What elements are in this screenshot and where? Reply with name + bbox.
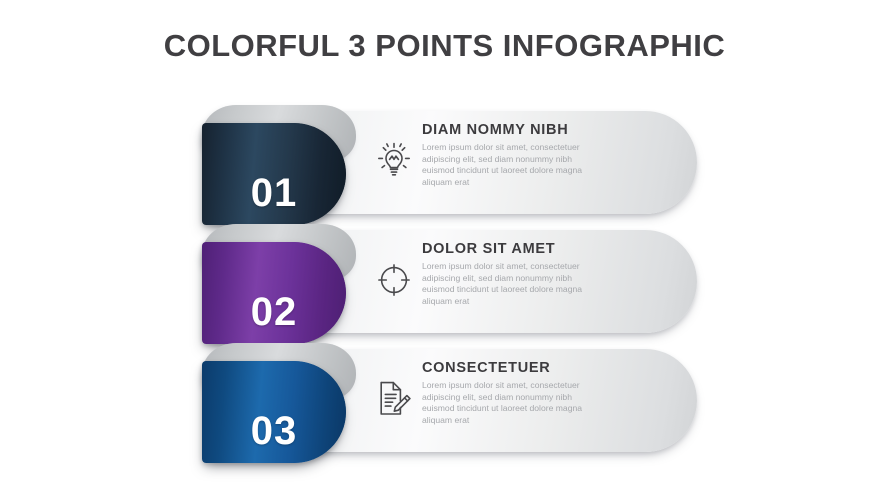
lightbulb-idea-icon — [366, 115, 422, 201]
point-heading-2: DOLOR SIT AMET — [422, 241, 602, 257]
number-tab-1[interactable]: 01 — [202, 123, 346, 225]
document-edit-pencil-icon — [366, 353, 422, 439]
point-text-3: CONSECTETUER Lorem ipsum dolor sit amet,… — [422, 353, 602, 426]
point-item-3[interactable]: 03 CONSECT — [196, 341, 696, 481]
point-content-2: DOLOR SIT AMET Lorem ipsum dolor sit ame… — [366, 234, 686, 330]
point-text-1: DIAM NOMMY NIBH Lorem ipsum dolor sit am… — [422, 115, 602, 188]
point-heading-3: CONSECTETUER — [422, 360, 602, 376]
point-content-3: CONSECTETUER Lorem ipsum dolor sit amet,… — [366, 353, 686, 449]
number-label-2: 02 — [202, 290, 346, 335]
point-text-2: DOLOR SIT AMET Lorem ipsum dolor sit ame… — [422, 234, 602, 307]
target-crosshair-icon — [366, 234, 422, 320]
point-heading-1: DIAM NOMMY NIBH — [422, 122, 602, 138]
number-label-1: 01 — [202, 171, 346, 216]
infographic-root: COLORFUL 3 POINTS INFOGRAPHIC 01 — [0, 0, 889, 500]
points-list: 01 — [0, 0, 889, 500]
point-body-3: Lorem ipsum dolor sit amet, consectetuer… — [422, 380, 602, 426]
number-label-3: 03 — [202, 409, 346, 454]
number-tab-2[interactable]: 02 — [202, 242, 346, 344]
point-body-2: Lorem ipsum dolor sit amet, consectetuer… — [422, 261, 602, 307]
point-body-1: Lorem ipsum dolor sit amet, consectetuer… — [422, 142, 602, 188]
number-tab-3[interactable]: 03 — [202, 361, 346, 463]
point-content-1: DIAM NOMMY NIBH Lorem ipsum dolor sit am… — [366, 115, 686, 211]
